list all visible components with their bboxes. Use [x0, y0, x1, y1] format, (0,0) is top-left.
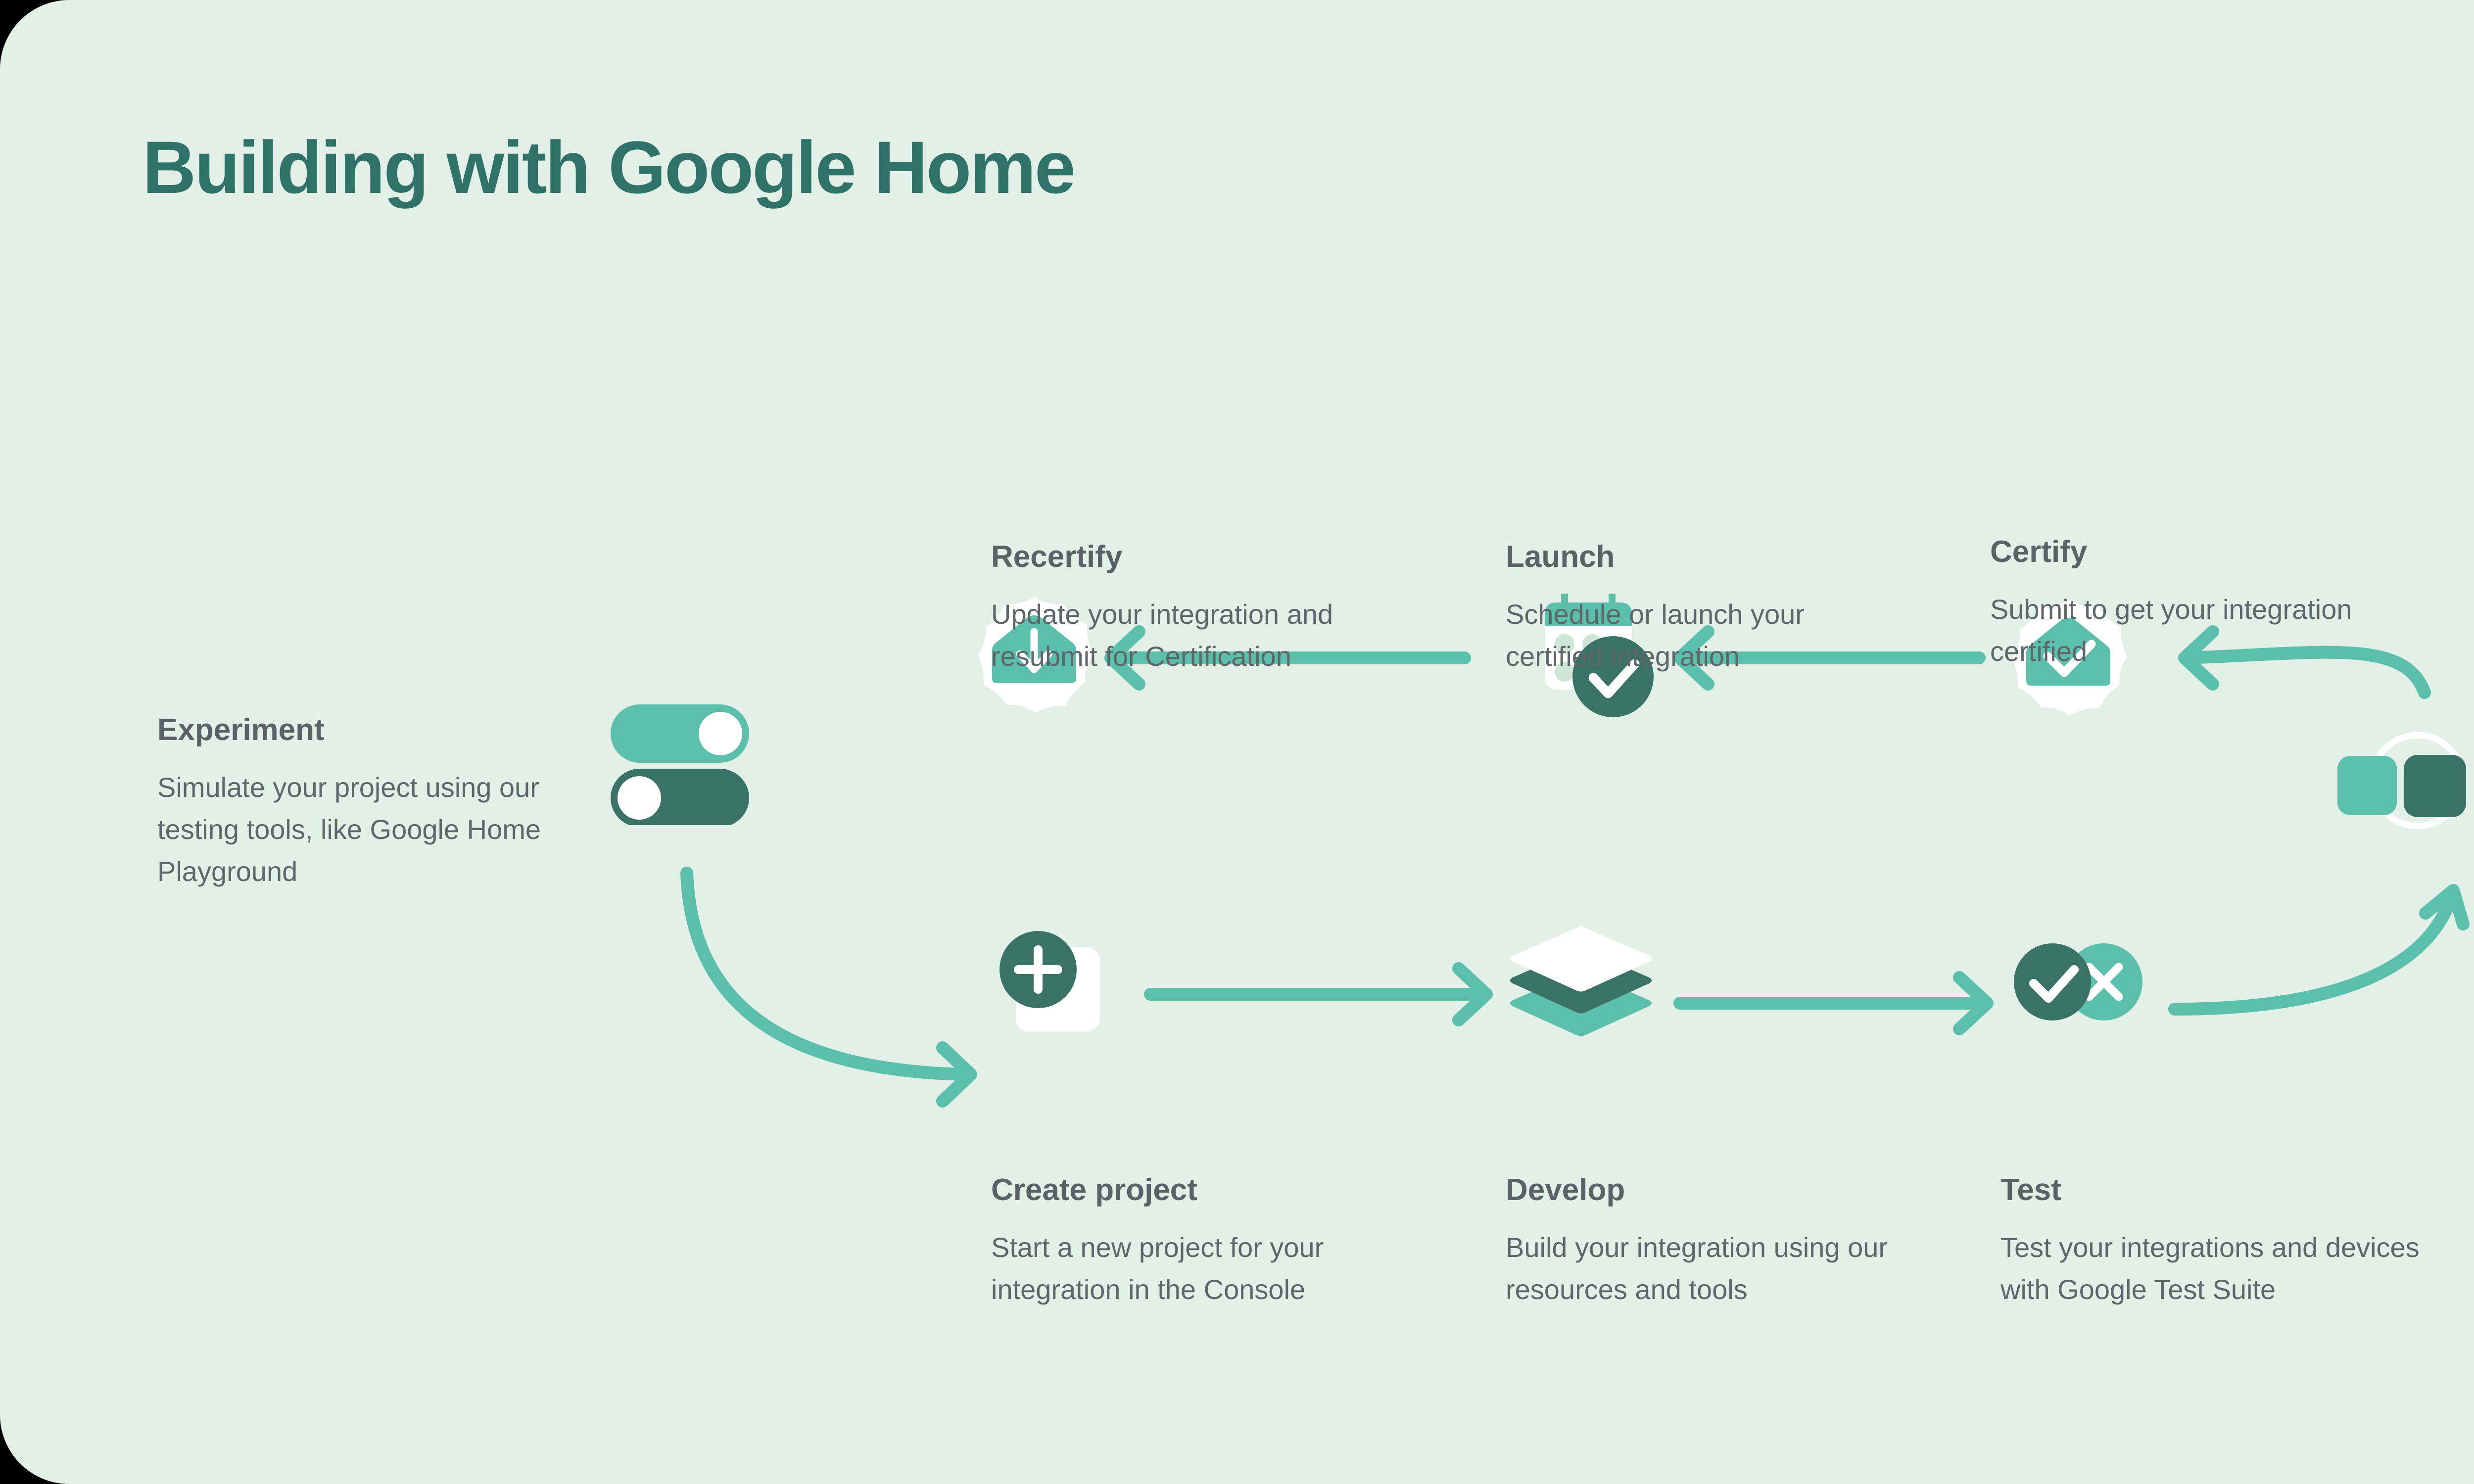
device-small-light — [2337, 756, 2397, 815]
step-body-develop: Build your integration using our resourc… — [1506, 1226, 1941, 1310]
step-block-create-project: Create project Start a new project for y… — [991, 1172, 1427, 1310]
check-and-cross-circles-icon — [1999, 930, 2157, 1034]
devices-in-circle-icon — [2326, 717, 2474, 841]
step-body-recertify: Update your integration and resubmit for… — [991, 593, 1427, 677]
arrow-test-to-trial — [2175, 900, 2450, 1009]
step-heading-experiment: Experiment — [157, 712, 593, 747]
check-circle-background — [2014, 943, 2091, 1020]
step-block-certify: Certify Submit to get your integration c… — [1990, 534, 2376, 672]
step-block-recertify: Recertify Update your integration and re… — [991, 539, 1427, 677]
toggle-switches-icon — [608, 701, 756, 825]
arrow-experiment-to-create — [687, 873, 967, 1074]
step-heading-launch: Launch — [1506, 539, 1902, 574]
step-body-launch: Schedule or launch your certified integr… — [1506, 593, 1902, 677]
layers-stack-icon — [1509, 925, 1653, 1039]
step-block-launch: Launch Schedule or launch your certified… — [1506, 539, 1902, 677]
step-body-test: Test your integrations and devices with … — [2000, 1226, 2456, 1310]
step-body-create-project: Start a new project for your integration… — [991, 1226, 1427, 1310]
add-plus-card-icon — [989, 920, 1117, 1044]
step-body-certify: Submit to get your integration certified — [1990, 588, 2376, 672]
toggle-on-knob — [699, 712, 742, 755]
device-large-dark — [2404, 755, 2466, 817]
step-block-test: Test Test your integrations and devices … — [2000, 1172, 2456, 1310]
toggle-off-knob — [618, 776, 661, 820]
step-block-experiment: Experiment Simulate your project using o… — [157, 712, 593, 892]
step-block-develop: Develop Build your integration using our… — [1506, 1172, 1941, 1310]
diagram-card: Building with Google Home — [0, 0, 2474, 1484]
step-heading-test: Test — [2000, 1172, 2456, 1207]
step-heading-recertify: Recertify — [991, 539, 1427, 574]
step-heading-certify: Certify — [1990, 534, 2376, 569]
step-heading-create-project: Create project — [991, 1172, 1427, 1207]
step-heading-develop: Develop — [1506, 1172, 1941, 1207]
step-body-experiment: Simulate your project using our testing … — [157, 766, 593, 892]
